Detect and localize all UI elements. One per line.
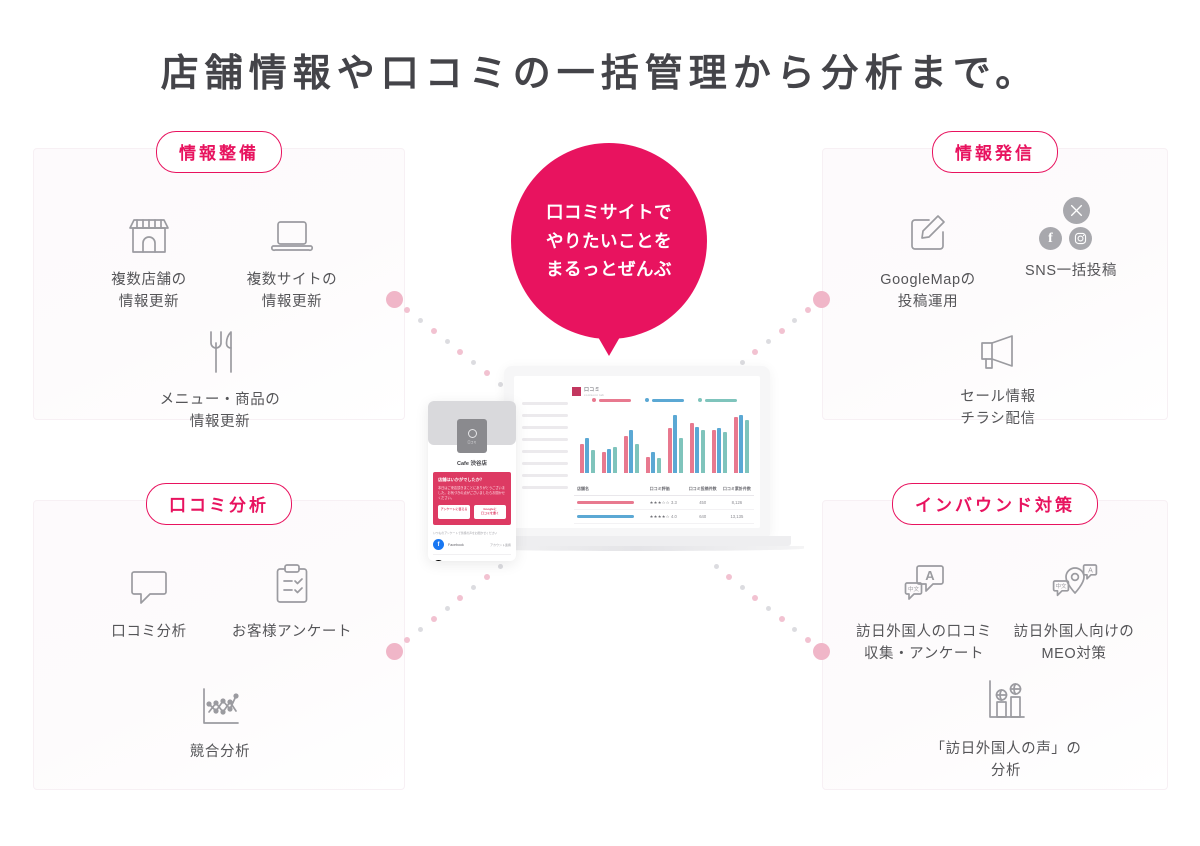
store-name-cell: [574, 515, 650, 518]
laptop-foot: [470, 546, 804, 551]
connector-dot: [766, 606, 771, 611]
connection-status: アカウント連携: [490, 543, 511, 547]
dashboard-content: 店舗名口コミ評価口コミ投稿件数口コミ累計件数★★★☆☆ 3.34508,126★…: [574, 398, 754, 524]
store-table: 店舗名口コミ評価口コミ投稿件数口コミ累計件数★★★☆☆ 3.34508,126★…: [574, 482, 754, 528]
table-header-row: 店舗名口コミ評価口コミ投稿件数口コミ累計件数: [574, 482, 754, 496]
bar: [657, 458, 661, 473]
survey-body: 本日はご来店頂きまことにありがとうございました。お気づきの点がございましたらお聞…: [438, 486, 506, 500]
bar: [679, 438, 683, 473]
legend-item: [645, 398, 684, 402]
bar-group: [690, 423, 705, 473]
legend-line: [705, 399, 737, 402]
phone-store-name: Cafe 渋谷店: [428, 459, 516, 467]
legend-marker: [592, 398, 596, 402]
connector-dot: [813, 643, 830, 660]
sns-connection-row[interactable]: 𝕏Xアカウント連携: [433, 560, 511, 561]
bar: [646, 457, 650, 473]
bar: [651, 452, 655, 473]
sns-connection-row[interactable]: fFacebookアカウント連携: [433, 539, 511, 555]
bar: [585, 438, 589, 473]
bar: [629, 430, 633, 473]
nav-item[interactable]: [522, 486, 568, 489]
connector-dot: [740, 585, 745, 590]
connector-dot: [779, 616, 785, 622]
x-icon: 𝕏: [433, 560, 444, 561]
dashboard-sidebar[interactable]: [522, 402, 568, 498]
phone-note: いつものアンケートで皆様の声をお聞かせください: [433, 531, 511, 535]
survey-card: 店舗はいかがでしたか？ 本日はご来店頂きまことにありがとうございました。お気づき…: [433, 472, 511, 525]
posts-cell: 640: [686, 514, 720, 519]
network-name: Facebook: [448, 543, 486, 547]
store-name-cell: [574, 501, 650, 504]
bar: [717, 428, 721, 473]
bar: [723, 432, 727, 473]
legend-line: [599, 399, 631, 402]
nav-item[interactable]: [522, 414, 568, 417]
survey-secondary-button[interactable]: Googleに 口コミを書く: [474, 505, 506, 519]
survey-buttons: アンケートに答える Googleに 口コミを書く: [438, 505, 506, 519]
bar-group: [712, 428, 727, 473]
survey-primary-button[interactable]: アンケートに答える: [438, 505, 470, 519]
phone-sns-list: fFacebookアカウント連携𝕏Xアカウント連携: [428, 539, 516, 561]
bar-group: [668, 415, 683, 473]
legend-item: [698, 398, 737, 402]
dashboard-logo: 口コミ comkomi lab: [572, 386, 604, 397]
center-bubble: 口コミサイトで やりたいことを まるっとぜんぶ: [511, 143, 707, 339]
posts-cell: 450: [686, 500, 720, 505]
nav-item[interactable]: [522, 474, 568, 477]
bar: [745, 420, 749, 473]
column-header: 口コミ累計件数: [720, 486, 754, 492]
laptop-lid: 口コミ comkomi lab 店舗名口コミ評価口コミ投稿件数口コミ累計件数★★…: [504, 366, 770, 536]
bar: [695, 427, 699, 473]
dashboard-screen: 口コミ comkomi lab 店舗名口コミ評価口コミ投稿件数口コミ累計件数★★…: [514, 376, 760, 528]
bar: [712, 430, 716, 473]
bar: [624, 436, 628, 473]
legend-marker: [645, 398, 649, 402]
connector-dot: [805, 637, 811, 643]
bar: [690, 423, 694, 473]
chart-legend: [574, 398, 754, 402]
total-cell: 13,135: [720, 514, 754, 519]
bar: [613, 447, 617, 473]
legend-marker: [698, 398, 702, 402]
survey-heading: 店舗はいかがでしたか？: [438, 477, 506, 483]
avatar-ring: [468, 429, 477, 438]
bar: [607, 449, 611, 473]
bar-group: [646, 452, 661, 473]
connector-dot: [752, 595, 758, 601]
bar: [668, 428, 672, 473]
rating-cell: ★★★★☆ 4.0: [650, 514, 686, 519]
bar-group: [580, 438, 595, 473]
bubble-tail: [594, 330, 624, 356]
bar: [602, 452, 606, 473]
total-cell: 8,126: [720, 500, 754, 505]
table-row[interactable]: ★★★★☆ 4.064013,135: [574, 510, 754, 524]
device-mockup: 口コミ comkomi lab 店舗名口コミ評価口コミ投稿件数口コミ累計件数★★…: [420, 366, 800, 576]
rating-cell: ★★★☆☆ 3.3: [650, 500, 686, 505]
table-row[interactable]: ★★★☆☆ 3.34508,126: [574, 496, 754, 510]
nav-item[interactable]: [522, 462, 568, 465]
phone-hero-image: 口コミ: [428, 401, 516, 445]
bar: [591, 450, 595, 473]
bar-group: [602, 447, 617, 473]
center-bubble-text: 口コミサイトで やりたいことを まるっとぜんぶ: [546, 198, 672, 285]
column-header: 口コミ評価: [650, 486, 686, 492]
table-row[interactable]: ★★★☆☆ 3.134115,098: [574, 524, 754, 528]
bar-chart: [574, 411, 754, 473]
nav-item[interactable]: [522, 450, 568, 453]
laptop-base: [483, 536, 791, 546]
column-header: 口コミ投稿件数: [686, 486, 720, 492]
bar-group: [734, 415, 749, 473]
logo-text: 口コミ comkomi lab: [584, 386, 604, 397]
connector-dot: [792, 627, 797, 632]
bar: [673, 415, 677, 473]
bar-group: [624, 430, 639, 473]
legend-line: [652, 399, 684, 402]
bar: [739, 415, 743, 473]
phone-mockup: 口コミ Cafe 渋谷店 店舗はいかがでしたか？ 本日はご来店頂きまことにありが…: [428, 401, 516, 561]
column-header: 店舗名: [574, 486, 650, 492]
facebook-icon: f: [433, 539, 444, 550]
bar: [734, 417, 738, 473]
legend-item: [592, 398, 631, 402]
logo-mark: [572, 387, 581, 396]
bar: [635, 444, 639, 473]
bar: [580, 444, 584, 473]
bar: [701, 430, 705, 473]
nav-item[interactable]: [522, 426, 568, 429]
nav-item[interactable]: [522, 402, 568, 405]
store-avatar: 口コミ: [457, 419, 487, 453]
nav-item[interactable]: [522, 438, 568, 441]
